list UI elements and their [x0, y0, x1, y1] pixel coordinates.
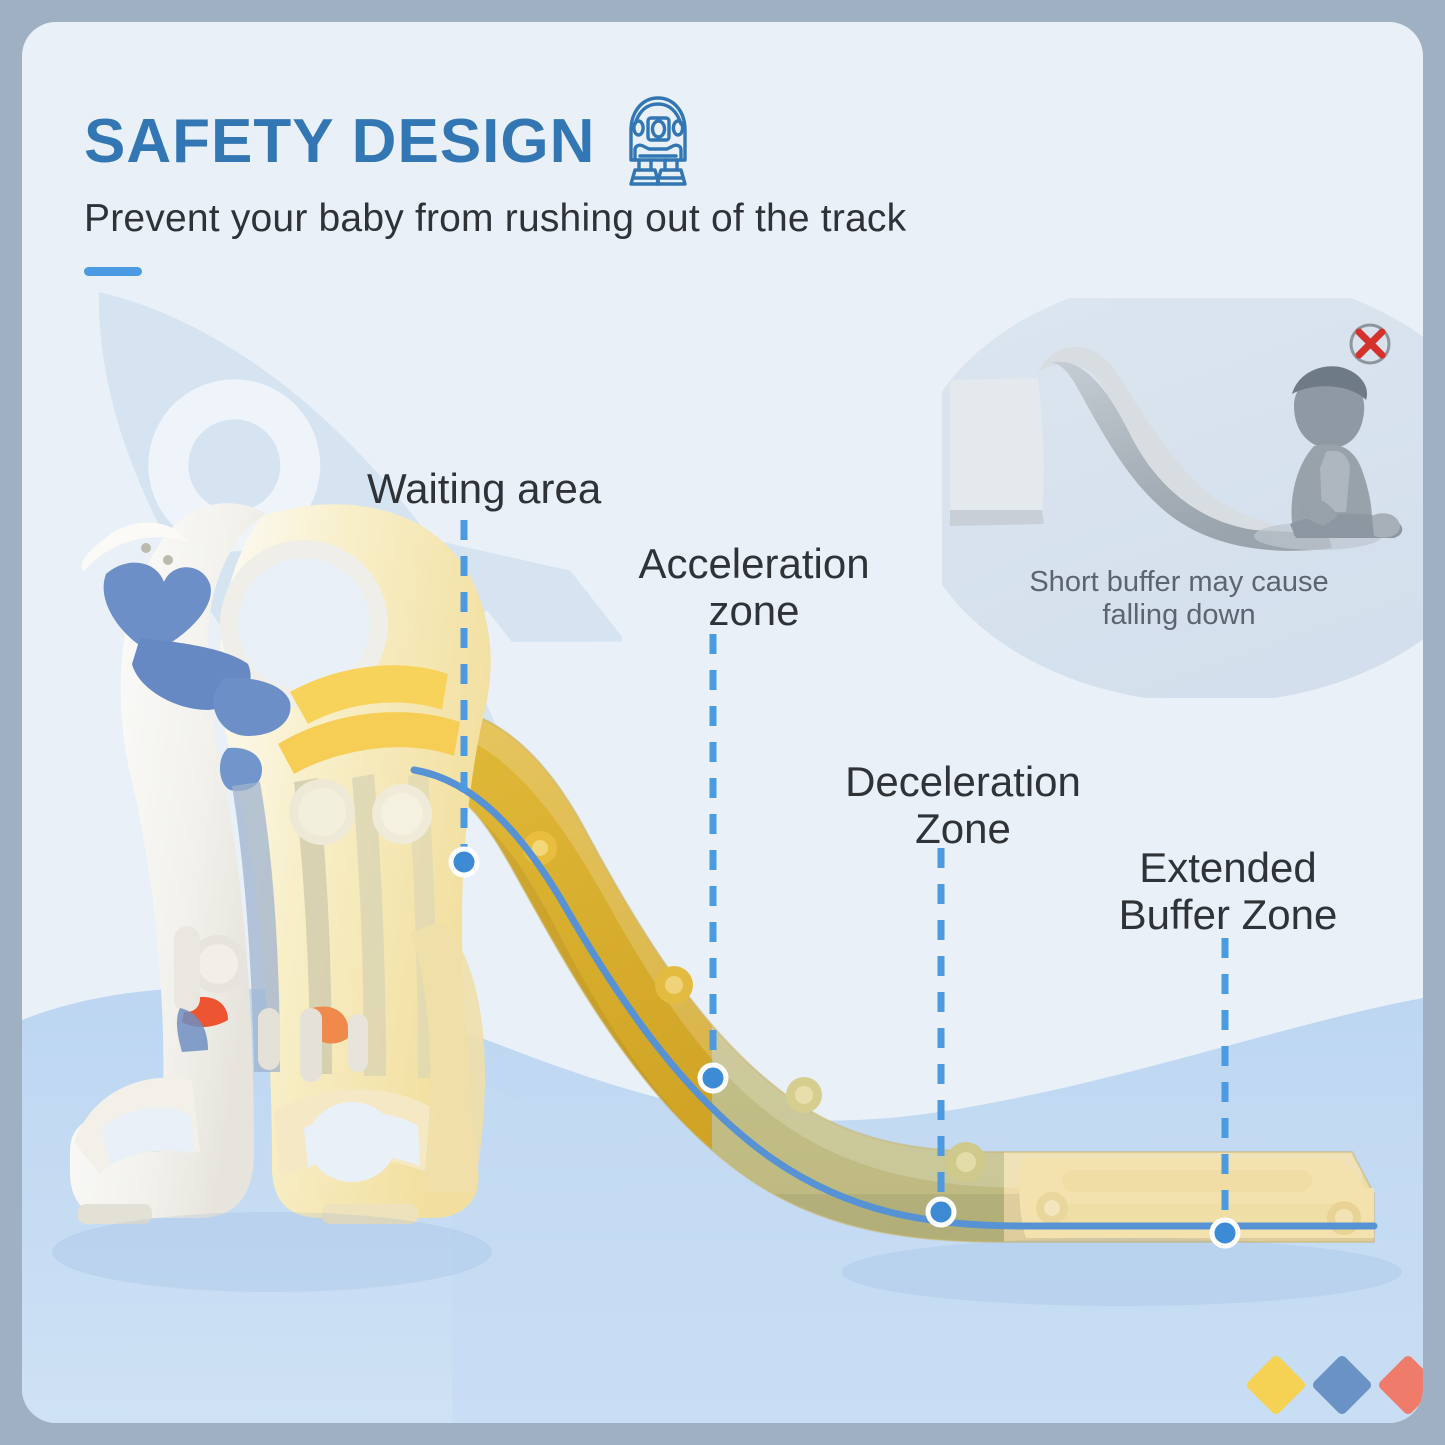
callout-waiting-area: Waiting area — [367, 465, 601, 512]
dot-waiting — [451, 849, 477, 875]
diamond-blue — [1311, 1354, 1373, 1416]
callout-extended-buffer-zone: Extended Buffer Zone — [1060, 844, 1396, 938]
callout-deceleration-zone: Deceleration Zone — [808, 758, 1118, 852]
header-title-row: SAFETY DESIGN — [84, 94, 695, 190]
decorative-diamonds — [1254, 1363, 1423, 1407]
callout-waiting-label: Waiting area — [367, 465, 601, 512]
callout-extended-line2: Buffer Zone — [1060, 891, 1396, 938]
diamond-coral — [1377, 1354, 1423, 1416]
dot-acceleration — [700, 1065, 726, 1091]
dot-extended — [1212, 1220, 1238, 1246]
callout-acceleration-zone: Acceleration zone — [594, 540, 914, 634]
dot-deceleration — [928, 1199, 954, 1225]
rocket-icon — [621, 94, 695, 190]
diamond-yellow — [1245, 1354, 1307, 1416]
accent-bar — [84, 267, 142, 276]
page-subtitle: Prevent your baby from rushing out of th… — [84, 197, 906, 241]
callout-acceleration-line2: zone — [594, 587, 914, 634]
callout-extended-line1: Extended — [1060, 844, 1396, 891]
page-title: SAFETY DESIGN — [84, 111, 595, 173]
infographic-root: Short buffer may cause falling down SAFE… — [0, 0, 1445, 1445]
callout-acceleration-line1: Acceleration — [594, 540, 914, 587]
callout-deceleration-line1: Deceleration — [808, 758, 1118, 805]
content-panel: Short buffer may cause falling down SAFE… — [22, 22, 1423, 1423]
